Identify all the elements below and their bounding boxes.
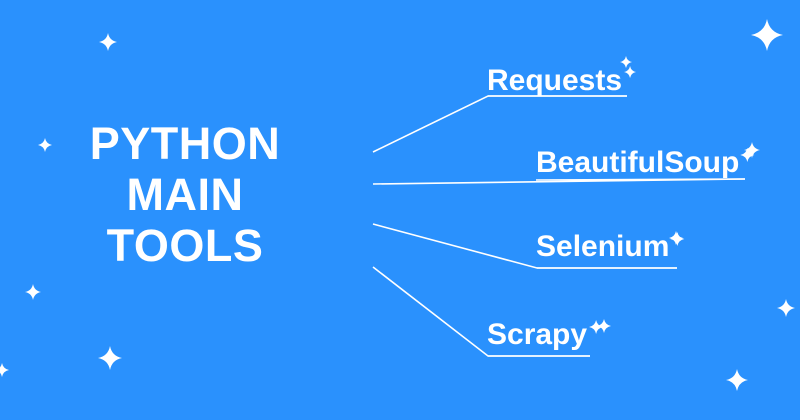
connector-requests <box>373 96 627 152</box>
hub-title-line-2: MAIN <box>0 169 370 220</box>
sparkle-icon <box>751 19 783 51</box>
sparkle-icon <box>744 142 760 158</box>
sparkle-icon <box>99 33 117 51</box>
tool-label-scrapy: Scrapy <box>487 318 587 352</box>
sparkle-icon <box>624 66 636 78</box>
sparkle-icon <box>670 232 684 246</box>
sparkle-icon <box>726 369 748 391</box>
hub-title-line-1: PYTHON <box>0 118 370 169</box>
sparkle-icon <box>597 319 611 333</box>
hub-title: PYTHON MAIN TOOLS <box>0 118 370 271</box>
tool-label-selenium: Selenium <box>536 230 669 264</box>
sparkle-icon <box>589 320 603 334</box>
tool-label-beautifulsoup: BeautifulSoup <box>536 146 739 180</box>
sparkle-icon <box>669 231 683 245</box>
sparkle-icon <box>740 148 754 162</box>
sparkle-icon <box>98 346 122 370</box>
sparkle-icon <box>777 299 795 317</box>
infographic-canvas: PYTHON MAIN TOOLS Requests BeautifulSoup… <box>0 0 800 420</box>
sparkle-icon <box>25 284 41 300</box>
tool-label-requests: Requests <box>487 64 622 98</box>
hub-title-line-3: TOOLS <box>0 220 370 271</box>
sparkle-icon <box>0 363 9 377</box>
